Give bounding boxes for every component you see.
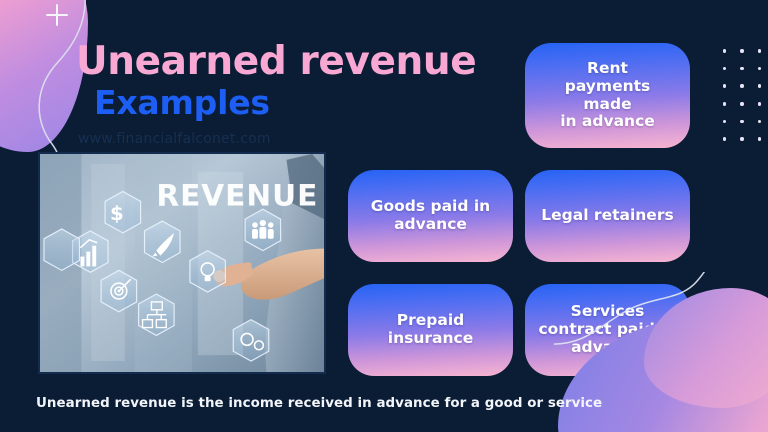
plus-icon (46, 4, 68, 26)
site-watermark: www.financialfalconet.com (78, 131, 271, 147)
footer-caption: Unearned revenue is the income received … (36, 396, 602, 411)
slide-canvas: Unearned revenue Examples www.financialf… (0, 0, 768, 432)
photo-artwork: REVENUE $ (40, 154, 324, 373)
dot-grid-decoration (716, 42, 768, 148)
card-label: Goods paid in advance (356, 198, 505, 234)
example-card-rent[interactable]: Rent payments made in advance (525, 43, 690, 148)
title-line-primary: Unearned revenue (76, 42, 496, 83)
page-title: Unearned revenue Examples (76, 42, 496, 122)
example-card-legal[interactable]: Legal retainers (525, 170, 690, 262)
svg-text:$: $ (110, 202, 124, 225)
example-card-goods[interactable]: Goods paid in advance (348, 170, 513, 262)
example-card-prepaid[interactable]: Prepaid insurance (348, 284, 513, 376)
card-label: Prepaid insurance (356, 312, 505, 348)
card-label: Rent payments made in advance (560, 60, 655, 132)
revenue-photo: REVENUE $ (38, 152, 326, 374)
card-label: Legal retainers (541, 207, 673, 225)
title-line-secondary: Examples (94, 85, 496, 122)
svg-text:REVENUE: REVENUE (156, 178, 318, 212)
